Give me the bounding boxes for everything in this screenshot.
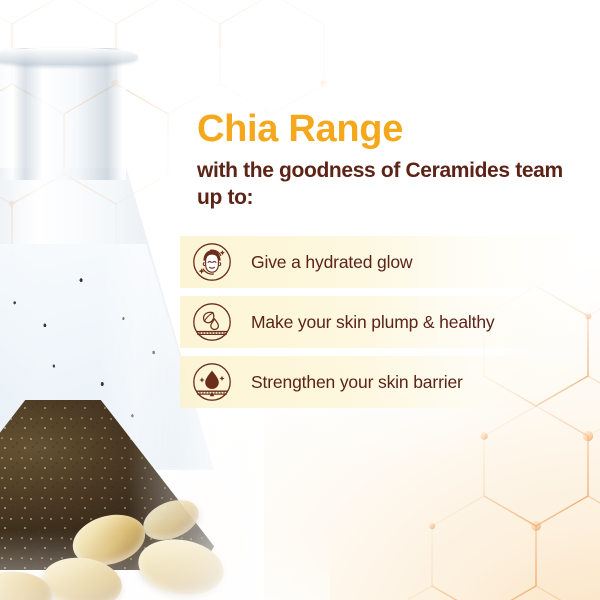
page-subtitle: with the goodness of Ceramides team up t…: [197, 157, 569, 212]
page-title: Chia Range: [197, 110, 577, 148]
promo-banner: Chia Range with the goodness of Ceramide…: [0, 0, 600, 600]
glowing-face-icon: [192, 242, 232, 282]
benefit-row: Give a hydrated glow: [180, 236, 600, 288]
benefit-row: Strengthen your skin barrier: [180, 356, 600, 408]
benefit-row: Make your skin plump & healthy: [180, 296, 600, 348]
leaf-droplet-skin-icon: [192, 302, 232, 342]
headline-block: Chia Range with the goodness of Ceramide…: [197, 110, 577, 212]
benefit-label: Give a hydrated glow: [251, 252, 412, 273]
benefit-list: Give a hydrated glow: [180, 236, 600, 416]
photo-bottom-fade: [0, 530, 330, 600]
benefit-label: Make your skin plump & healthy: [251, 312, 495, 333]
droplet-skin-barrier-icon: [192, 362, 232, 402]
benefit-label: Strengthen your skin barrier: [251, 372, 463, 393]
